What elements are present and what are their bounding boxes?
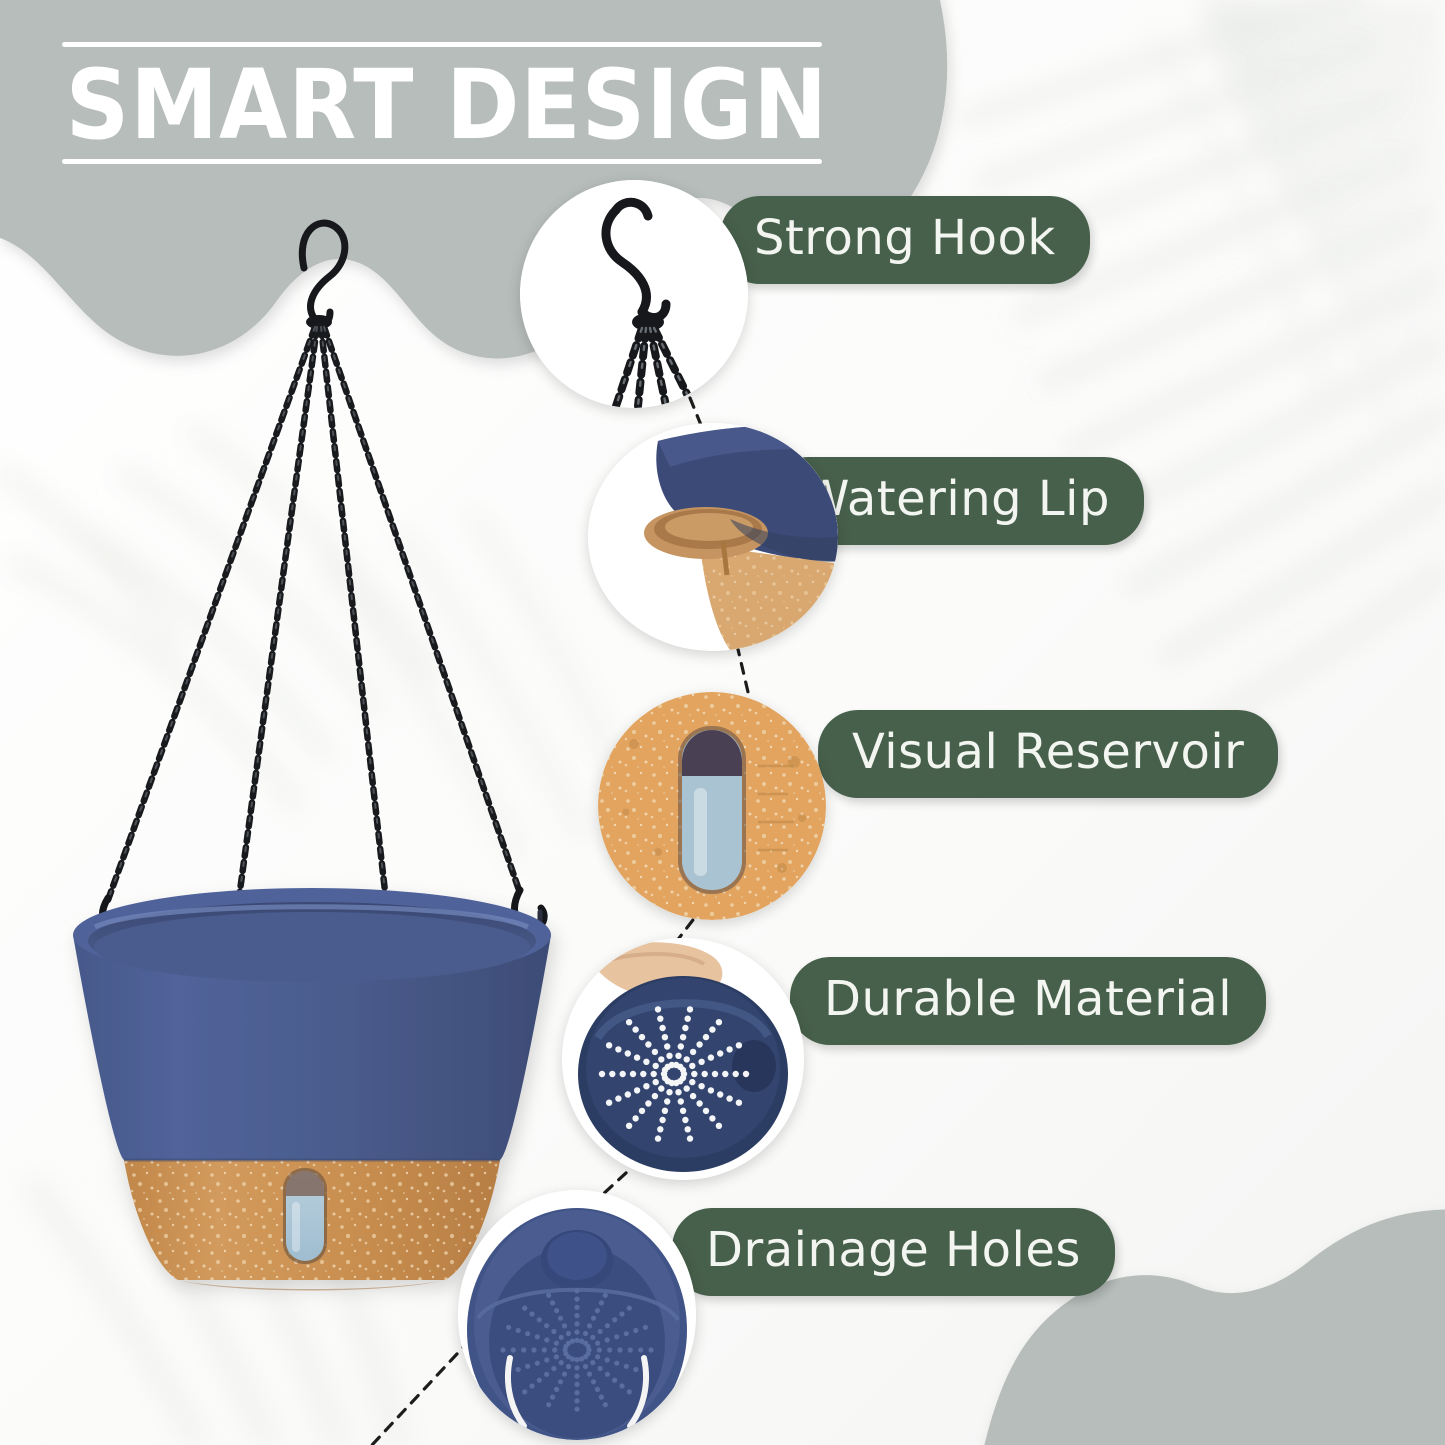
connector-drainage-to-product bbox=[372, 1340, 470, 1445]
infographic-canvas: SMART DESIGN bbox=[0, 0, 1445, 1445]
water-level-window bbox=[283, 1168, 327, 1264]
squeeze-hand-icon bbox=[562, 938, 804, 1180]
drainage-base-icon bbox=[458, 1190, 696, 1440]
feature-image-durable-material[interactable] bbox=[562, 938, 804, 1180]
hanging-planter-illustration bbox=[0, 0, 640, 1340]
water-level-window-icon bbox=[598, 692, 826, 920]
feature-image-watering-lip[interactable] bbox=[588, 423, 838, 651]
feature-image-visual-reservoir[interactable] bbox=[598, 692, 826, 920]
top-s-hook bbox=[302, 223, 345, 329]
chain-link-sheen bbox=[108, 327, 520, 905]
connector-lip-to-reservoir bbox=[737, 645, 748, 692]
feature-image-drainage-holes[interactable] bbox=[458, 1190, 696, 1440]
watering-lip-icon bbox=[588, 423, 838, 651]
hanging-chains bbox=[108, 327, 520, 905]
feature-image-strong-hook[interactable] bbox=[520, 180, 748, 408]
hook-and-chains-icon bbox=[520, 180, 748, 408]
